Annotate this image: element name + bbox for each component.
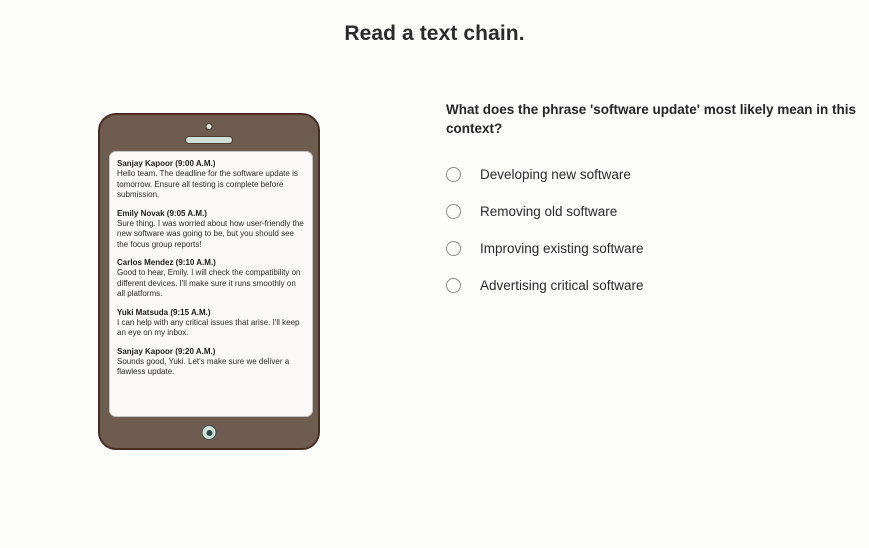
option-label-0: Developing new software [480, 167, 631, 182]
option-row-3[interactable]: Advertising critical software [446, 267, 858, 304]
tablet-screen: Sanjay Kapoor (9:00 A.M.) Hello team. Th… [109, 151, 313, 417]
chat-message-header: Carlos Mendez (9:10 A.M.) [117, 257, 305, 268]
chat-message-header: Yuki Matsuda (9:15 A.M.) [117, 307, 305, 318]
radio-button-3[interactable] [446, 278, 461, 293]
radio-button-1[interactable] [446, 204, 461, 219]
radio-button-0[interactable] [446, 167, 461, 182]
option-row-0[interactable]: Developing new software [446, 156, 858, 193]
chat-message: Sanjay Kapoor (9:00 A.M.) Hello team. Th… [117, 158, 305, 201]
camera-dot-icon [206, 123, 213, 130]
option-row-2[interactable]: Improving existing software [446, 230, 858, 267]
option-label-1: Removing old software [480, 204, 617, 219]
chat-message-body: I can help with any critical issues that… [117, 318, 305, 339]
chat-message: Carlos Mendez (9:10 A.M.) Good to hear, … [117, 257, 305, 300]
option-label-3: Advertising critical software [480, 278, 644, 293]
radio-button-2[interactable] [446, 241, 461, 256]
speaker-grille-icon [185, 136, 233, 144]
chat-message-body: Sure thing. I was worried about how user… [117, 219, 305, 251]
option-row-1[interactable]: Removing old software [446, 193, 858, 230]
chat-message: Sanjay Kapoor (9:20 A.M.) Sounds good, Y… [117, 346, 305, 378]
home-button-icon[interactable] [202, 425, 217, 440]
question-panel: What does the phrase 'software update' m… [446, 100, 858, 304]
chat-message: Yuki Matsuda (9:15 A.M.) I can help with… [117, 307, 305, 339]
option-label-2: Improving existing software [480, 241, 644, 256]
question-text: What does the phrase 'software update' m… [446, 100, 858, 138]
tablet-device: Sanjay Kapoor (9:00 A.M.) Hello team. Th… [98, 113, 320, 450]
chat-message-header: Sanjay Kapoor (9:00 A.M.) [117, 158, 305, 169]
chat-message-header: Sanjay Kapoor (9:20 A.M.) [117, 346, 305, 357]
chat-message-header: Emily Novak (9:05 A.M.) [117, 208, 305, 219]
chat-message-body: Good to hear, Emily. I will check the co… [117, 268, 305, 300]
page-title: Read a text chain. [0, 22, 869, 46]
chat-message-body: Sounds good, Yuki. Let's make sure we de… [117, 357, 305, 378]
chat-message-body: Hello team. The deadline for the softwar… [117, 169, 305, 201]
chat-message: Emily Novak (9:05 A.M.) Sure thing. I wa… [117, 208, 305, 251]
